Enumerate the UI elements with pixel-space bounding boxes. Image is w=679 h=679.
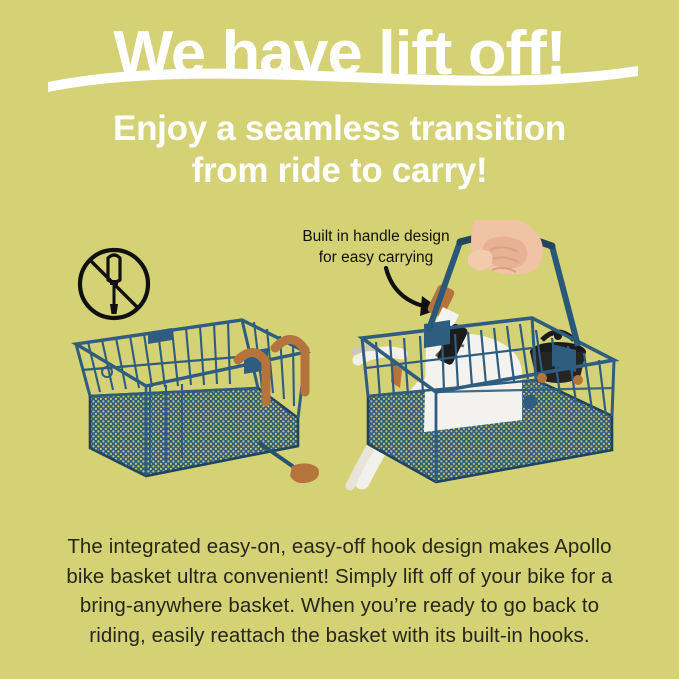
product-infographic: We have lift off! Enjoy a seamless trans… [0,0,679,679]
headline-block: We have lift off! [0,22,679,86]
subheadline-line-1: Enjoy a seamless transition [0,108,679,150]
body-paragraph: The integrated easy-on, easy-off hook de… [48,532,631,650]
copper-hook-end [537,373,547,383]
product-image-basket-detached [62,300,352,500]
body-line-4: riding, easily reattach the basket with … [48,621,631,651]
copper-hook-front [275,339,305,392]
page-title: We have lift off! [0,22,679,86]
copper-stabilizer-foot [290,463,319,483]
product-image-basket-mounted: retrospec [340,220,650,510]
mounting-bracket [148,328,172,344]
subheadline-line-2: from ride to carry! [0,150,679,192]
hand-gripping-handle [468,220,543,274]
body-line-3: bring-anywhere basket. When you’re ready… [48,591,631,621]
body-line-1: The integrated easy-on, easy-off hook de… [48,532,631,562]
subheadline-block: Enjoy a seamless transition from ride to… [0,108,679,192]
body-line-2: bike basket ultra convenient! Simply lif… [48,562,631,592]
